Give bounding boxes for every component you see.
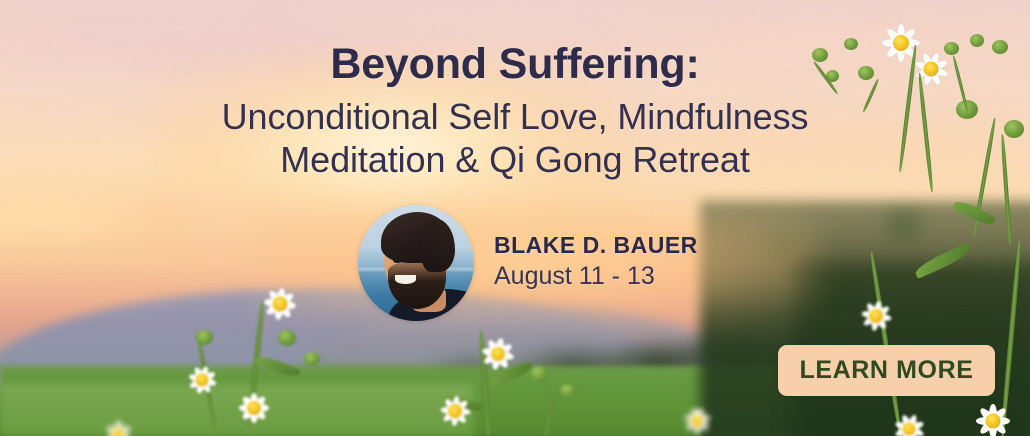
presenter-details: BLAKE D. BAUER August 11 - 13 [494, 233, 698, 293]
page-subtitle: Unconditional Self Love, Mindfulness Med… [0, 95, 1030, 181]
avatar-smile [395, 275, 416, 284]
promo-banner: Beyond Suffering: Unconditional Self Lov… [0, 0, 1030, 436]
page-title: Beyond Suffering: [0, 42, 1030, 88]
presenter-dates: August 11 - 13 [494, 263, 698, 291]
presenter-name: BLAKE D. BAUER [494, 233, 698, 258]
avatar-hair [421, 219, 456, 272]
presenter-block: BLAKE D. BAUER August 11 - 13 [358, 205, 698, 321]
subtitle-line-1: Unconditional Self Love, Mindfulness [0, 95, 1030, 138]
banner-content: Beyond Suffering: Unconditional Self Lov… [0, 0, 1030, 436]
headline-block: Beyond Suffering: Unconditional Self Lov… [0, 42, 1030, 181]
learn-more-button[interactable]: LEARN MORE [778, 345, 995, 396]
avatar [358, 205, 474, 321]
subtitle-line-2: Meditation & Qi Gong Retreat [0, 138, 1030, 181]
